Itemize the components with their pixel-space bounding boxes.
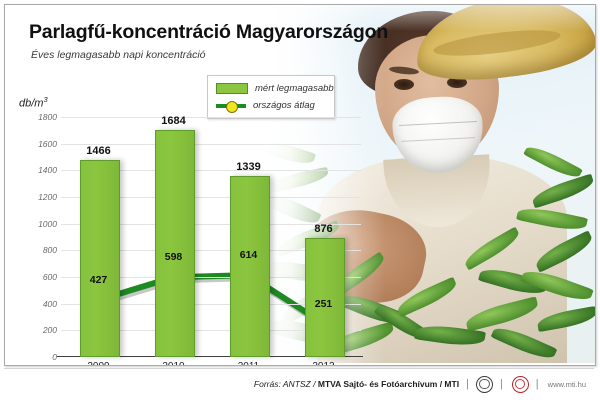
legend-item-line: országos átlag bbox=[216, 98, 315, 112]
chart-frame: Parlagfű-koncentráció Magyarországon Éve… bbox=[4, 4, 596, 366]
y-axis-tick-label: 1800 bbox=[38, 112, 57, 122]
footer-divider: | bbox=[500, 378, 503, 390]
bar bbox=[155, 130, 195, 357]
line-value-label: 427 bbox=[90, 274, 108, 286]
legend-line-swatch-icon bbox=[216, 101, 246, 110]
footer-divider: | bbox=[466, 378, 469, 390]
y-axis-unit-label: db/m3 bbox=[19, 95, 48, 110]
photo-eye-left bbox=[394, 79, 414, 90]
y-axis-tick-label: 0 bbox=[52, 352, 57, 362]
x-axis-tick-label: 2012 bbox=[312, 361, 334, 366]
source-organisation: MTVA Sajtó- és Fotóarchívum / MTI bbox=[318, 379, 459, 389]
gridline bbox=[61, 117, 361, 118]
mtva-logo-icon bbox=[476, 376, 493, 393]
source-url: www.mti.hu bbox=[548, 380, 586, 389]
infographic-page: Parlagfű-koncentráció Magyarországon Éve… bbox=[0, 0, 600, 402]
x-axis-tick-label: 2009 bbox=[87, 361, 109, 366]
x-axis-tick-label: 2010 bbox=[162, 361, 184, 366]
mti-logo-icon bbox=[512, 376, 529, 393]
y-axis-unit-text: db/m bbox=[19, 98, 43, 110]
bar-value-label: 1684 bbox=[161, 115, 185, 127]
footer-divider: | bbox=[536, 378, 539, 390]
source-prefix: Forrás: ANTSZ / bbox=[254, 379, 316, 389]
bar-value-label: 1339 bbox=[236, 161, 260, 173]
bar bbox=[80, 160, 120, 357]
legend-item-label: országos átlag bbox=[253, 100, 315, 111]
chart-legend: mért legmagasabb országos átlag bbox=[207, 75, 335, 119]
legend-item-label: mért legmagasabb bbox=[255, 83, 334, 94]
line-value-label: 598 bbox=[165, 251, 183, 263]
legend-item-bar: mért legmagasabb bbox=[216, 81, 334, 95]
line-value-label: 614 bbox=[240, 249, 258, 261]
source-footer: Forrás: ANTSZ / MTVA Sajtó- és Fotóarchí… bbox=[4, 368, 594, 399]
chart-plot-area: 0200400600800100012001400160018001466168… bbox=[61, 117, 361, 357]
y-axis-tick-label: 1200 bbox=[38, 192, 57, 202]
y-axis-unit-exponent: 3 bbox=[43, 95, 47, 104]
y-axis-tick-label: 400 bbox=[43, 299, 57, 309]
average-line-path bbox=[99, 275, 324, 323]
bar-value-label: 1466 bbox=[86, 145, 110, 157]
y-axis-tick-label: 200 bbox=[43, 325, 57, 335]
line-value-label: 251 bbox=[315, 298, 333, 310]
y-axis-tick-label: 600 bbox=[43, 272, 57, 282]
y-axis-tick-label: 1600 bbox=[38, 139, 57, 149]
y-axis-tick-label: 1000 bbox=[38, 219, 57, 229]
x-axis-tick-label: 2011 bbox=[238, 361, 260, 366]
page-subtitle: Éves legmagasabb napi koncentráció bbox=[31, 49, 206, 61]
page-title: Parlagfű-koncentráció Magyarországon bbox=[29, 21, 388, 44]
y-axis-tick-label: 1400 bbox=[38, 165, 57, 175]
bar bbox=[230, 176, 270, 357]
y-axis-tick-label: 800 bbox=[43, 245, 57, 255]
source-text: Forrás: ANTSZ / MTVA Sajtó- és Fotóarchí… bbox=[254, 379, 459, 389]
legend-bar-swatch-icon bbox=[216, 83, 248, 94]
bar-value-label: 876 bbox=[314, 223, 332, 235]
